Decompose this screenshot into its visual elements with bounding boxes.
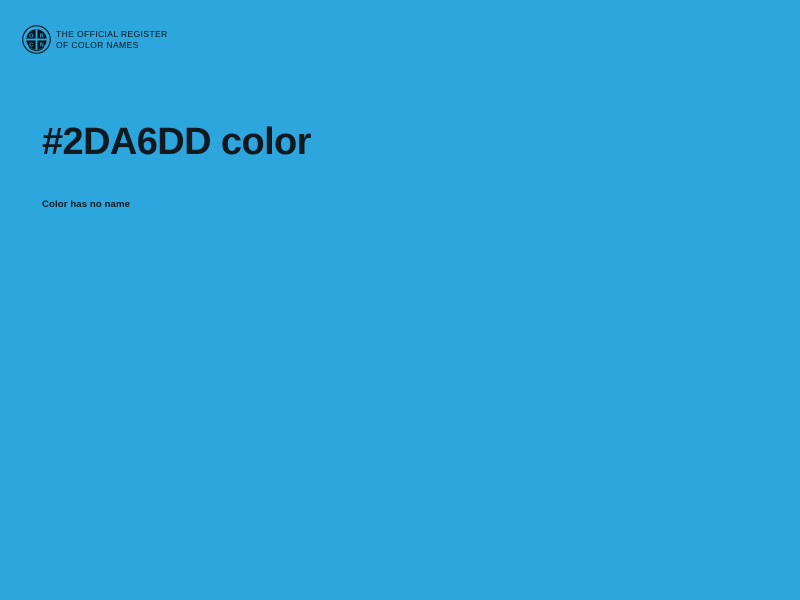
page-title: #2DA6DD color xyxy=(42,118,742,167)
brand-logo[interactable]: O R C N THE OFFICIAL REGISTER OF COLOR N… xyxy=(22,25,168,54)
svg-text:O: O xyxy=(29,34,34,40)
color-name-status: Color has no name xyxy=(42,167,742,210)
brand-line-1: THE OFFICIAL REGISTER xyxy=(56,29,168,39)
register-seal-icon: O R C N xyxy=(22,25,51,54)
brand-wordmark: THE OFFICIAL REGISTER OF COLOR NAMES xyxy=(56,29,168,49)
color-info: #2DA6DD color Color has no name xyxy=(42,118,742,210)
brand-line-2: OF COLOR NAMES xyxy=(56,40,168,50)
color-page: O R C N THE OFFICIAL REGISTER OF COLOR N… xyxy=(0,0,800,600)
svg-text:R: R xyxy=(40,34,44,40)
